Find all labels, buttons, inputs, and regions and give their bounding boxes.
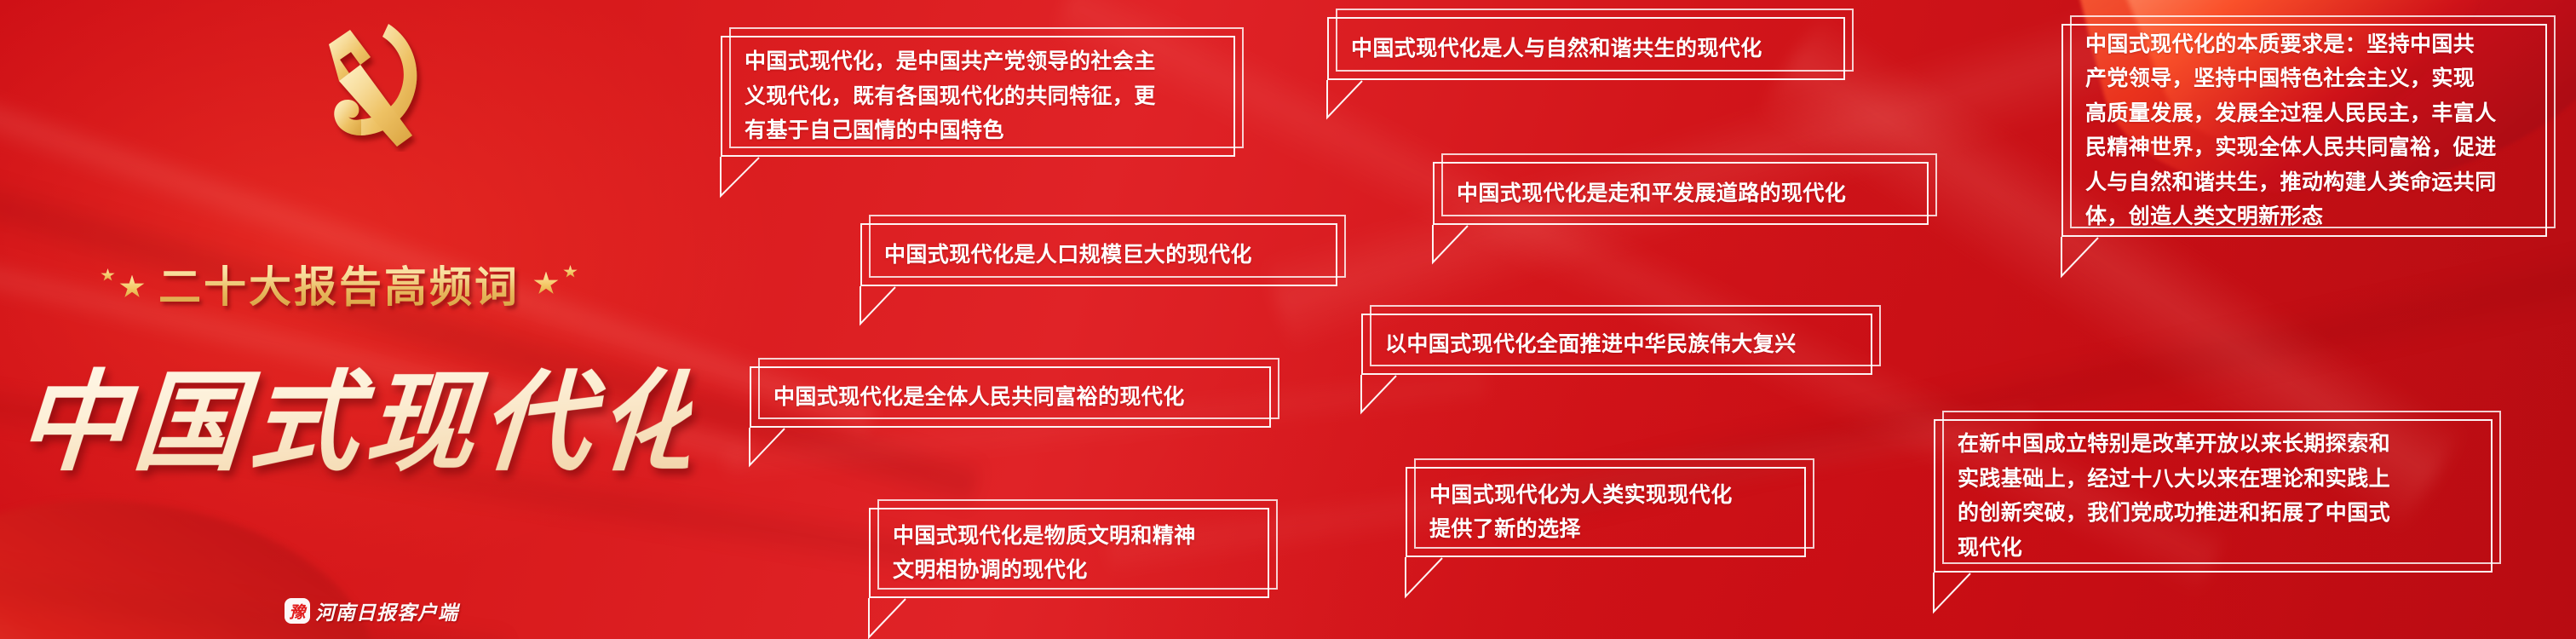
bubble-tail	[749, 428, 802, 467]
left-title-panel: 二十大报告高频词 中国式现代化	[0, 0, 699, 639]
bubble-tail	[868, 598, 921, 637]
star-decoration-left	[101, 275, 145, 300]
bubble-text: 中国式现代化是走和平发展道路的现代化	[1435, 176, 1865, 211]
bubble-tail	[860, 286, 912, 325]
bubble-national-rejuvenation[interactable]: 以中国式现代化全面推进中华民族伟大复兴	[1361, 314, 1872, 375]
bubble-text: 中国式现代化，是中国共产党领导的社会主 义现代化，既有各国现代化的共同特征，更 …	[722, 44, 1175, 148]
subtitle-row: 二十大报告高频词	[101, 252, 646, 315]
bubble-text: 中国式现代化是人与自然和谐共生的现代化	[1329, 32, 1781, 66]
bubble-frame: 中国式现代化是走和平发展道路的现代化	[1433, 162, 1929, 225]
bubble-text: 以中国式现代化全面推进中华民族伟大复兴	[1363, 327, 1815, 362]
bubble-tail	[2061, 237, 2113, 276]
bubble-frame: 中国式现代化为人类实现现代化 提供了新的选择	[1406, 467, 1806, 557]
bubble-tail	[1360, 375, 1413, 414]
bubble-text: 中国式现代化是全体人民共同富裕的现代化	[751, 380, 1204, 415]
bubble-text: 中国式现代化是物质文明和精神 文明相协调的现代化	[871, 519, 1215, 588]
watermark-badge: 豫	[285, 598, 310, 624]
bubble-material-spiritual[interactable]: 中国式现代化是物质文明和精神 文明相协调的现代化	[869, 508, 1269, 598]
bubble-population-scale[interactable]: 中国式现代化是人口规模巨大的现代化	[860, 223, 1337, 286]
bubble-tail	[1933, 573, 1986, 612]
bubble-frame: 中国式现代化是物质文明和精神 文明相协调的现代化	[869, 508, 1269, 598]
bubble-peaceful-development[interactable]: 中国式现代化是走和平发展道路的现代化	[1433, 162, 1929, 225]
star-decoration-right	[533, 272, 578, 296]
bubble-tail	[1326, 80, 1379, 119]
page-title: 中国式现代化	[14, 334, 698, 492]
bubble-frame: 中国式现代化是人与自然和谐共生的现代化	[1327, 17, 1845, 80]
bubble-essential-requirements[interactable]: 中国式现代化的本质要求是：坚持中国共 产党领导，坚持中国特色社会主义，实现 高质…	[2061, 24, 2547, 237]
subtitle-text: 二十大报告高频词	[158, 253, 520, 314]
bubble-common-prosperity[interactable]: 中国式现代化是全体人民共同富裕的现代化	[750, 366, 1271, 428]
bubble-frame: 在新中国成立特别是改革开放以来长期探索和 实践基础上，经过十八大以来在理论和实践…	[1934, 419, 2493, 573]
bubble-frame: 中国式现代化是全体人民共同富裕的现代化	[750, 366, 1271, 428]
star-icon	[101, 268, 115, 282]
star-icon	[533, 272, 559, 296]
bubble-tail	[1432, 225, 1485, 264]
bubble-frame: 中国式现代化是人口规模巨大的现代化	[860, 223, 1337, 286]
bubble-frame: 中国式现代化，是中国共产党领导的社会主 义现代化，既有各国现代化的共同特征，更 …	[721, 36, 1235, 157]
bubble-tail	[1405, 557, 1458, 596]
bubble-frame: 中国式现代化的本质要求是：坚持中国共 产党领导，坚持中国特色社会主义，实现 高质…	[2061, 24, 2547, 237]
bubble-text: 中国式现代化是人口规模巨大的现代化	[862, 238, 1271, 273]
poster-canvas: 二十大报告高频词 中国式现代化 豫 河南日报客户端 中国式现代化，是中国共产党领…	[0, 0, 2576, 639]
bubble-new-choice[interactable]: 中国式现代化为人类实现现代化 提供了新的选择	[1406, 467, 1806, 557]
bubble-definition[interactable]: 中国式现代化，是中国共产党领导的社会主 义现代化，既有各国现代化的共同特征，更 …	[721, 36, 1235, 157]
bubble-text: 中国式现代化为人类实现现代化 提供了新的选择	[1407, 478, 1751, 547]
bubble-text: 中国式现代化的本质要求是：坚持中国共 产党领导，坚持中国特色社会主义，实现 高质…	[2063, 27, 2516, 234]
bubble-harmony-nature[interactable]: 中国式现代化是人与自然和谐共生的现代化	[1327, 17, 1845, 80]
bubble-frame: 以中国式现代化全面推进中华民族伟大复兴	[1361, 314, 1872, 375]
watermark-label: 河南日报客户端	[315, 596, 458, 625]
bubble-historical-exploration[interactable]: 在新中国成立特别是改革开放以来长期探索和 实践基础上，经过十八大以来在理论和实践…	[1934, 419, 2493, 573]
cpc-hammer-sickle-emblem	[279, 15, 441, 152]
watermark: 豫 河南日报客户端	[285, 596, 458, 625]
bubble-text: 在新中国成立特别是改革开放以来长期探索和 实践基础上，经过十八大以来在理论和实践…	[1935, 427, 2409, 565]
bubble-tail	[720, 157, 773, 196]
star-icon	[563, 265, 578, 279]
star-icon	[119, 275, 145, 300]
